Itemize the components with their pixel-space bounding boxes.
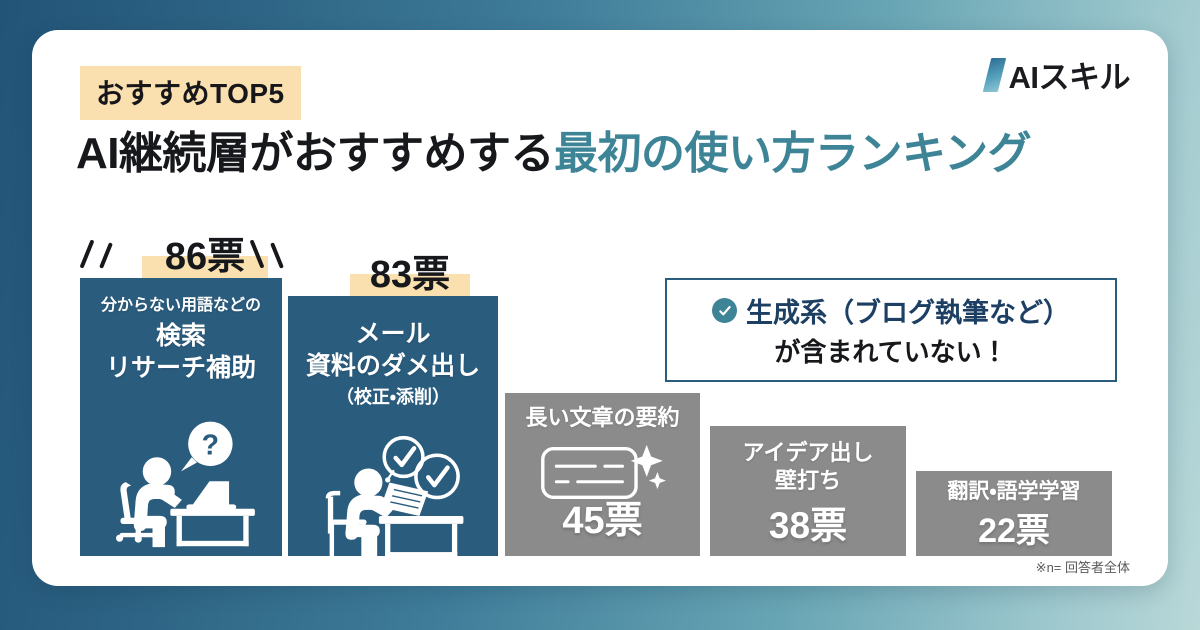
bar-votes-label-5: 22票: [916, 514, 1112, 548]
emphasis-stroke-left-b: [99, 242, 113, 269]
bar-sublabel-2: （校正・添削）: [288, 387, 498, 409]
bar-label-2: メール 資料のダメ出し: [288, 318, 498, 382]
emphasis-stroke-left-a: [80, 239, 95, 268]
bar-label-4: アイデア出し 壁打ち: [710, 439, 906, 495]
person-at-desk-with-question-icon: ?: [92, 416, 270, 550]
bar-label-5: 翻訳・語学学習: [916, 479, 1112, 506]
bar-votes-label-1: 86票: [138, 238, 272, 276]
callout-line-1-text: 生成系（ブログ執筆など）: [746, 291, 1070, 330]
callout-line-2-text: が含まれていない！: [774, 332, 1007, 369]
chart-bar-5[interactable]: 翻訳・語学学習 22票: [916, 471, 1112, 556]
bar-votes-label-4: 38票: [710, 507, 906, 544]
callout-line-1-row: 生成系（ブログ執筆など）: [712, 291, 1070, 330]
bar-label-3: 長い文章の要約: [505, 404, 700, 432]
callout-box: 生成系（ブログ執筆など） が含まれていない！: [665, 278, 1117, 382]
chart-bar-3[interactable]: 長い文章の要約 45票: [505, 393, 700, 556]
person-at-desk-with-checkmarks-icon: [302, 428, 484, 556]
footnote-text: ※n= 回答者全体: [1036, 557, 1130, 576]
bar-label-1: 検索 リサーチ補助: [80, 320, 282, 384]
bar-votes-label-2: 83票: [344, 256, 476, 294]
svg-text:?: ?: [202, 430, 219, 462]
chart-bar-4[interactable]: アイデア出し 壁打ち 38票: [710, 426, 906, 556]
emphasis-stroke-right-b: [270, 242, 284, 269]
check-circle-icon: [712, 298, 737, 323]
bar-eyebrow-1: 分からない用語などの: [80, 296, 282, 316]
bar-votes-label-3: 45票: [505, 502, 700, 540]
chart-bar-1[interactable]: 分からない用語などの 検索 リサーチ補助: [80, 278, 282, 556]
chart-bar-2[interactable]: メール 資料のダメ出し （校正・添削）: [288, 296, 498, 556]
summary-document-sparkle-icon: [535, 439, 671, 507]
infographic-card: AIスキル おすすめTOP5 AI継続層がおすすめする最初の使い方ランキング 8…: [32, 30, 1168, 586]
